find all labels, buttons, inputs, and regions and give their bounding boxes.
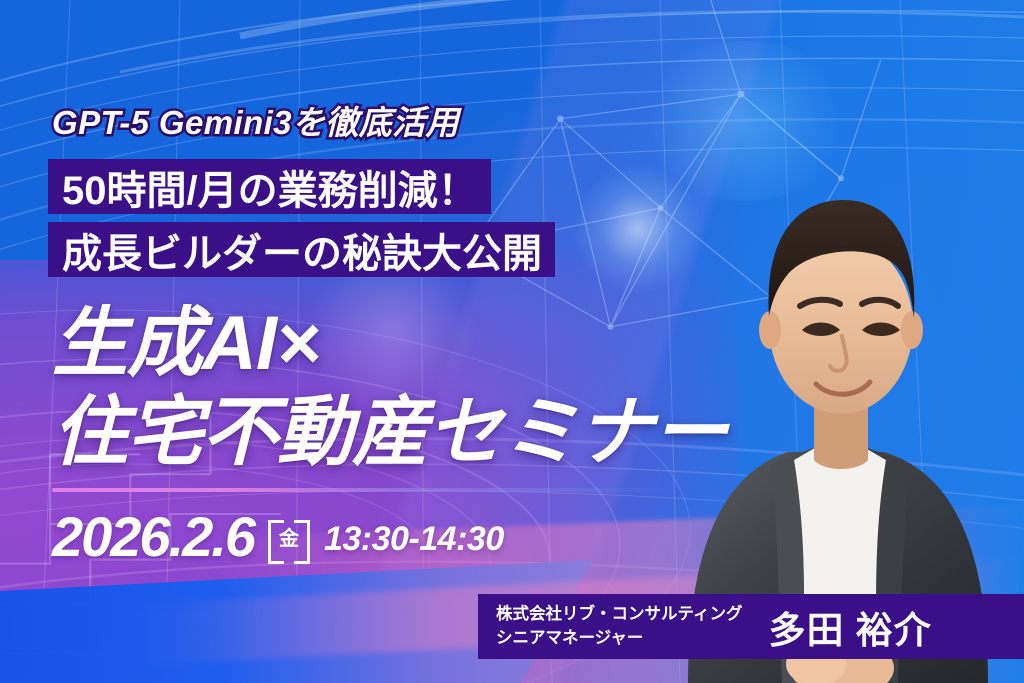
speaker-company: 株式会社リブ・コンサルティング: [496, 603, 743, 627]
speaker-title: シニアマネージャー: [496, 627, 743, 651]
kicker-text: GPT-5 Gemini3を徹底活用: [52, 96, 459, 144]
speaker-name: 多田 裕介: [769, 600, 932, 654]
highlight-badge-1: 50時間/月の業務削減！: [48, 159, 491, 214]
divider-line: [52, 488, 672, 492]
seminar-banner: GPT-5 Gemini3を徹底活用 50時間/月の業務削減！ 成長ビルダーの秘…: [0, 0, 1024, 683]
event-day-of-week: 金: [268, 520, 310, 558]
event-date: 2026.2.6: [52, 504, 254, 569]
highlight-badge-1-label: 50時間/月の業務削減！: [62, 158, 478, 216]
schedule-row: 2026.2.6 金 13:30-14:30: [52, 504, 504, 569]
event-time: 13:30-14:30: [324, 520, 504, 559]
highlight-badge-2-label: 成長ビルダーの秘訣大公開: [62, 221, 542, 279]
speaker-info-bar: 株式会社リブ・コンサルティング シニアマネージャー 多田 裕介: [478, 594, 1024, 659]
headline-line-2: 住宅不動産セミナー: [52, 370, 727, 480]
highlight-badge-2: 成長ビルダーの秘訣大公開: [48, 222, 555, 277]
speaker-affiliation: 株式会社リブ・コンサルティング シニアマネージャー: [496, 603, 743, 651]
